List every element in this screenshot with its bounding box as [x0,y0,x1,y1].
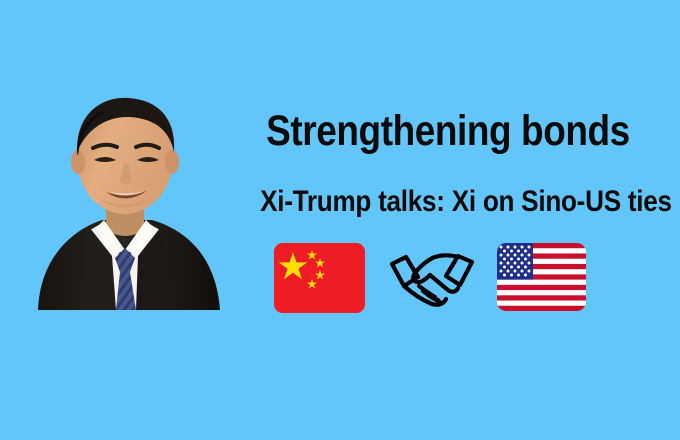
news-banner: Strengthening bonds Xi-Trump talks: Xi o… [0,0,680,440]
flag-china-icon [274,243,365,313]
portrait-photo [20,90,230,310]
flag-usa-icon [497,243,586,311]
emblem-row [274,243,586,315]
handshake-icon [388,248,476,308]
subtitle: Xi-Trump talks: Xi on Sino-US ties [260,186,636,218]
headline: Strengthening bonds [266,108,631,154]
